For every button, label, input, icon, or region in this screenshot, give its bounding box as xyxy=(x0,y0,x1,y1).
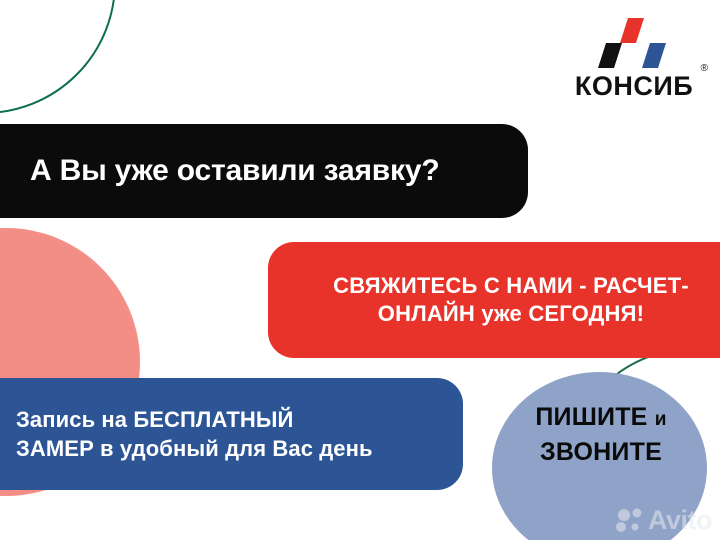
avito-watermark: Avito xyxy=(615,507,712,534)
contact-line2-online: ОНЛАЙН xyxy=(378,301,475,326)
green-ring-decoration-top-left xyxy=(0,0,116,114)
contact-line2-today: СЕГОДНЯ! xyxy=(528,301,644,326)
registered-trademark-symbol: ® xyxy=(701,64,708,74)
free-measurement-banner: Запись на БЕСПЛАТНЫЙ ЗАМЕР в удобный для… xyxy=(0,378,463,490)
promo-banner-canvas: КОНСИБ ® А Вы уже оставили заявку? СВЯЖИ… xyxy=(0,0,720,540)
caption-line-2: ЗВОНИТЕ xyxy=(492,435,710,470)
avito-wordmark: Avito xyxy=(648,507,712,534)
caption-line-1: ПИШИТЕ и xyxy=(492,400,710,435)
question-banner: А Вы уже оставили заявку? xyxy=(0,124,528,218)
contact-banner: СВЯЖИТЕСЬ С НАМИ - РАСЧЕТ- ОНЛАЙН уже СЕ… xyxy=(268,242,720,358)
brand-logo: КОНСИБ ® xyxy=(560,18,708,100)
contact-banner-line-1: СВЯЖИТЕСЬ С НАМИ - РАСЧЕТ- xyxy=(333,272,689,300)
measure-banner-line-2: ЗАМЕР в удобный для Вас день xyxy=(16,434,463,463)
avito-dots-icon xyxy=(615,508,645,534)
question-banner-text: А Вы уже оставили заявку? xyxy=(0,154,439,188)
konsib-mark-icon xyxy=(598,18,674,68)
caption-and: и xyxy=(655,409,667,430)
caption-write: ПИШИТЕ xyxy=(535,403,647,431)
contact-banner-line-2: ОНЛАЙН уже СЕГОДНЯ! xyxy=(378,300,644,328)
write-and-call-caption: ПИШИТЕ и ЗВОНИТЕ xyxy=(492,400,710,469)
brand-wordmark: КОНСИБ xyxy=(560,73,708,100)
measure-banner-line-1: Запись на БЕСПЛАТНЫЙ xyxy=(16,405,463,434)
contact-line2-already: уже xyxy=(481,301,522,326)
